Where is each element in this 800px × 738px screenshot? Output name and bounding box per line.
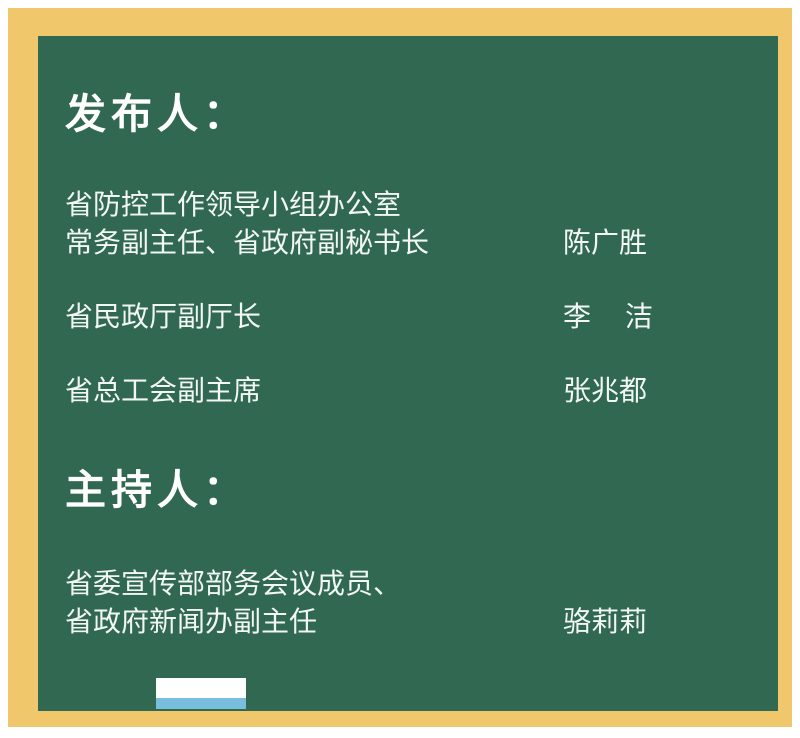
speaker-role: 省防控工作领导小组办公室 常务副主任、省政府副秘书长 <box>65 186 429 262</box>
section-heading-host: 主持人： <box>65 470 249 511</box>
speaker-role-line: 省民政厅副厅长 <box>65 298 261 336</box>
watermark-chip <box>156 678 246 709</box>
watermark-chip-band <box>156 698 246 709</box>
speaker-role: 省总工会副主席 <box>65 372 261 410</box>
green-board: 发布人： 省防控工作领导小组办公室 常务副主任、省政府副秘书长 陈广胜 省民政厅… <box>38 36 778 711</box>
speaker-role-line: 常务副主任、省政府副秘书长 <box>65 224 429 262</box>
section-heading-speakers: 发布人： <box>65 94 249 135</box>
speaker-entry: 省总工会副主席 张兆都 <box>65 372 751 410</box>
poster-root: 发布人： 省防控工作领导小组办公室 常务副主任、省政府副秘书长 陈广胜 省民政厅… <box>0 0 800 738</box>
speaker-entry: 省防控工作领导小组办公室 常务副主任、省政府副秘书长 陈广胜 <box>65 186 751 262</box>
speaker-entry: 省民政厅副厅长 李洁 <box>65 298 751 336</box>
gold-frame-border: 发布人： 省防控工作领导小组办公室 常务副主任、省政府副秘书长 陈广胜 省民政厅… <box>8 8 792 727</box>
speaker-name: 李洁 <box>563 298 653 336</box>
speaker-name: 张兆都 <box>563 372 647 410</box>
speaker-name: 陈广胜 <box>563 224 647 262</box>
host-entry: 省委宣传部部务会议成员、 省政府新闻办副主任 骆莉莉 <box>65 565 751 641</box>
speaker-name-given: 洁 <box>625 301 653 332</box>
speaker-name-surname: 李 <box>563 301 591 332</box>
speaker-role-line: 省防控工作领导小组办公室 <box>65 186 429 224</box>
host-role-line: 省委宣传部部务会议成员、 <box>65 565 401 603</box>
speaker-role: 省民政厅副厅长 <box>65 298 261 336</box>
host-role-line: 省政府新闻办副主任 <box>65 603 401 641</box>
host-name: 骆莉莉 <box>563 603 647 641</box>
host-role: 省委宣传部部务会议成员、 省政府新闻办副主任 <box>65 565 401 641</box>
speaker-role-line: 省总工会副主席 <box>65 372 261 410</box>
